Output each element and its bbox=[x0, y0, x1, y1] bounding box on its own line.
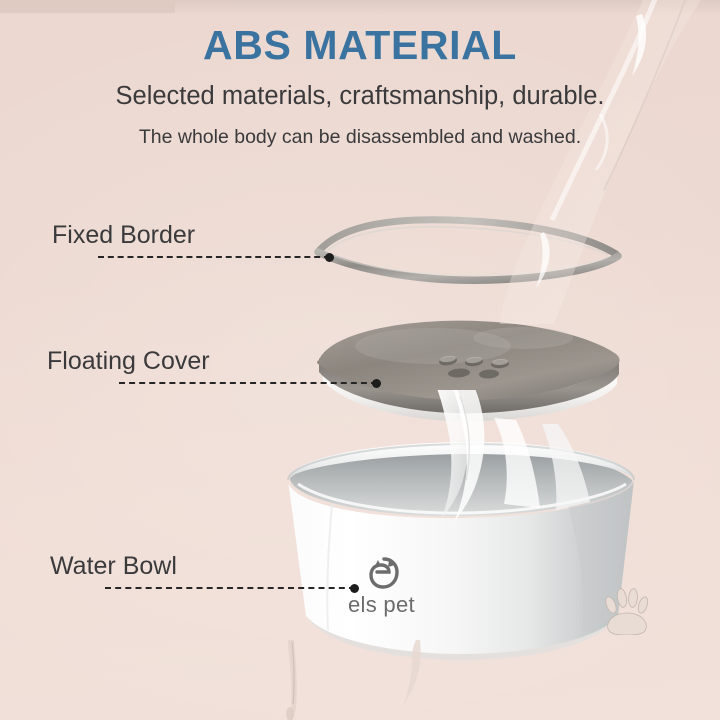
water-stream-middle bbox=[430, 390, 620, 540]
callout-fixed-border-label: Fixed Border bbox=[52, 221, 195, 250]
product-infographic: els pet bbox=[0, 0, 720, 720]
subtitle-secondary: The whole body can be disassembled and w… bbox=[0, 126, 720, 149]
callout-fixed-border: Fixed Border bbox=[52, 214, 332, 258]
callout-floating-cover-anchor-dot bbox=[372, 379, 381, 388]
callout-floating-cover: Floating Cover bbox=[47, 340, 357, 384]
page-title: ABS MATERIAL bbox=[0, 22, 720, 69]
callout-water-bowl: Water Bowl bbox=[50, 545, 345, 589]
callout-fixed-border-leader-line bbox=[98, 256, 330, 258]
callout-water-bowl-label: Water Bowl bbox=[50, 552, 177, 581]
callout-floating-cover-leader-line bbox=[119, 382, 377, 384]
paw-print-icon bbox=[600, 583, 656, 635]
callout-floating-cover-label: Floating Cover bbox=[47, 347, 210, 376]
water-drip-bottom bbox=[270, 640, 530, 720]
callout-water-bowl-anchor-dot bbox=[350, 584, 359, 593]
callout-water-bowl-leader-line bbox=[105, 587, 355, 589]
subtitle-primary: Selected materials, craftsmanship, durab… bbox=[0, 82, 720, 111]
callout-fixed-border-anchor-dot bbox=[325, 253, 334, 262]
